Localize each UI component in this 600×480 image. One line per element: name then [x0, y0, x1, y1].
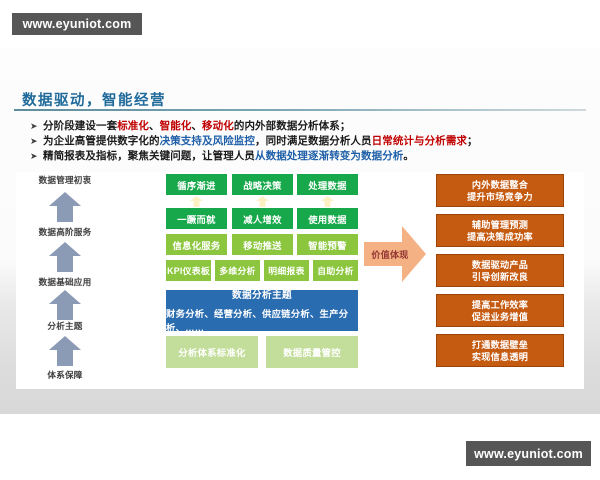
capability-diagram: 数据管理初衷数据高阶服务数据基础应用分析主题体系保障 循序渐进战略决策处理数据一…: [16, 172, 584, 389]
bullet-run: 从数据处理逐渐转变为数据分析: [255, 150, 403, 162]
stage-label-2: 数据基础应用: [16, 276, 114, 288]
bullet-text: 为企业高管提供数字化的决策支持及风险监控，同时满足数据分析人员日常统计与分析需求…: [43, 134, 478, 149]
watermark-top: www.eyuniot.com: [12, 13, 142, 35]
bullet-run: 为企业高管提供数字化的: [43, 135, 160, 147]
stage-up-arrow-icon-0: [49, 192, 81, 222]
outcome-line1: 打通数据壁垒: [472, 339, 528, 351]
capability-box: 循序渐进: [166, 174, 227, 195]
flow-up-arrow-icon-0: [190, 196, 203, 207]
bullet-item: ➤分阶段建设一套标准化、智能化、移动化的内外部数据分析体系；: [30, 119, 590, 134]
watermark-top-label: www.eyuniot.com: [23, 17, 132, 31]
capability-box: 使用数据: [297, 208, 358, 229]
outcome-box-1: 辅助管理预测提高决策成功率: [436, 214, 564, 247]
capability-box: 一蹶而就: [166, 208, 227, 229]
bullet-item: ➤精简报表及指标，聚焦关键问题，让管理人员从数据处理逐渐转变为数据分析。: [30, 149, 590, 164]
capability-box: 智能预警: [297, 234, 358, 255]
bullet-run: 智能化: [160, 120, 192, 132]
bullet-run: 精简报表及指标，聚焦关键问题，让管理人员: [43, 150, 255, 162]
value-arrow-label: 价值体现: [368, 248, 412, 261]
watermark-bottom-label: www.eyuniot.com: [474, 447, 583, 461]
bullet-run: 。: [403, 150, 414, 162]
slide-canvas: 数据驱动，智能经营 ➤分阶段建设一套标准化、智能化、移动化的内外部数据分析体系；…: [0, 48, 600, 414]
topic-band-title: 数据分析主题: [232, 287, 292, 301]
outcome-line2: 促进业务增值: [472, 311, 528, 323]
stage-up-arrow-icon-3: [49, 336, 81, 366]
bullet-run: 分阶段建设一套: [43, 120, 117, 132]
bullet-marker-icon: ➤: [30, 149, 43, 164]
bullet-item: ➤为企业高管提供数字化的决策支持及风险监控，同时满足数据分析人员日常统计与分析需…: [30, 134, 590, 149]
topic-band-detail: 财务分析、经营分析、供应链分析、生产分析、……: [166, 306, 358, 334]
outcome-line1: 数据驱动产品: [472, 259, 528, 271]
stage-up-arrow-icon-1: [49, 242, 81, 272]
bullet-marker-icon: ➤: [30, 119, 43, 134]
outcome-line2: 提高决策成功率: [467, 231, 533, 243]
outcome-line2: 提升市场竞争力: [467, 191, 533, 203]
topic-band: 数据分析主题 财务分析、经营分析、供应链分析、生产分析、……: [166, 290, 358, 331]
bullet-run: ；: [467, 135, 478, 147]
capability-box: 减人增效: [232, 208, 293, 229]
capability-box: 处理数据: [297, 174, 358, 195]
bullet-run: 移动化: [202, 120, 234, 132]
title-divider: [14, 109, 586, 111]
bullet-run: 标准化: [117, 120, 149, 132]
capability-box: KPI仪表板: [166, 260, 211, 281]
bullet-marker-icon: ➤: [30, 134, 43, 149]
capability-box: 信息化服务: [166, 234, 227, 255]
bullet-text: 分阶段建设一套标准化、智能化、移动化的内外部数据分析体系；: [43, 119, 350, 134]
outcome-line2: 实现信息透明: [472, 351, 528, 363]
bullet-run: 的内外部数据分析体系；: [234, 120, 351, 132]
bullet-run: 、: [191, 120, 202, 132]
footer-divider: [20, 420, 580, 421]
outcome-box-4: 打通数据壁垒实现信息透明: [436, 334, 564, 367]
bullet-run: 决策支持及风险监控: [160, 135, 255, 147]
outcome-box-0: 内外数据整合提升市场竞争力: [436, 174, 564, 207]
foundation-box: 数据质量管控: [266, 336, 358, 368]
outcome-line1: 内外数据整合: [472, 179, 528, 191]
value-arrow: 价值体现: [364, 224, 426, 284]
outcome-box-3: 提高工作效率促进业务增值: [436, 294, 564, 327]
capability-box: 多维分析: [215, 260, 260, 281]
capability-box: 战略决策: [232, 174, 293, 195]
stage-label-0: 数据管理初衷: [16, 174, 114, 186]
bullet-list: ➤分阶段建设一套标准化、智能化、移动化的内外部数据分析体系；➤为企业高管提供数字…: [30, 119, 590, 164]
flow-up-arrow-icon-1: [256, 196, 269, 207]
stage-up-arrow-icon-2: [49, 290, 81, 320]
page-title: 数据驱动，智能经营: [22, 89, 166, 110]
bullet-run: ，同时满足数据分析人员: [255, 135, 372, 147]
watermark-bottom: www.eyuniot.com: [466, 441, 591, 466]
outcome-box-2: 数据驱动产品引导创新改良: [436, 254, 564, 287]
stage-column: 数据管理初衷数据高阶服务数据基础应用分析主题体系保障: [16, 172, 114, 389]
capability-box: 自助分析: [313, 260, 358, 281]
bullet-text: 精简报表及指标，聚焦关键问题，让管理人员从数据处理逐渐转变为数据分析。: [43, 149, 414, 164]
outcome-line1: 提高工作效率: [472, 299, 528, 311]
foundation-box: 分析体系标准化: [166, 336, 258, 368]
outcome-line2: 引导创新改良: [472, 271, 528, 283]
bullet-run: 日常统计与分析需求: [372, 135, 467, 147]
stage-label-3: 分析主题: [16, 320, 114, 332]
capability-box: 移动推送: [232, 234, 293, 255]
bullet-run: 、: [149, 120, 160, 132]
outcome-line1: 辅助管理预测: [472, 219, 528, 231]
stage-label-4: 体系保障: [16, 369, 114, 381]
stage-label-1: 数据高阶服务: [16, 226, 114, 238]
capability-box: 明细报表: [264, 260, 309, 281]
flow-up-arrow-icon-2: [321, 196, 334, 207]
